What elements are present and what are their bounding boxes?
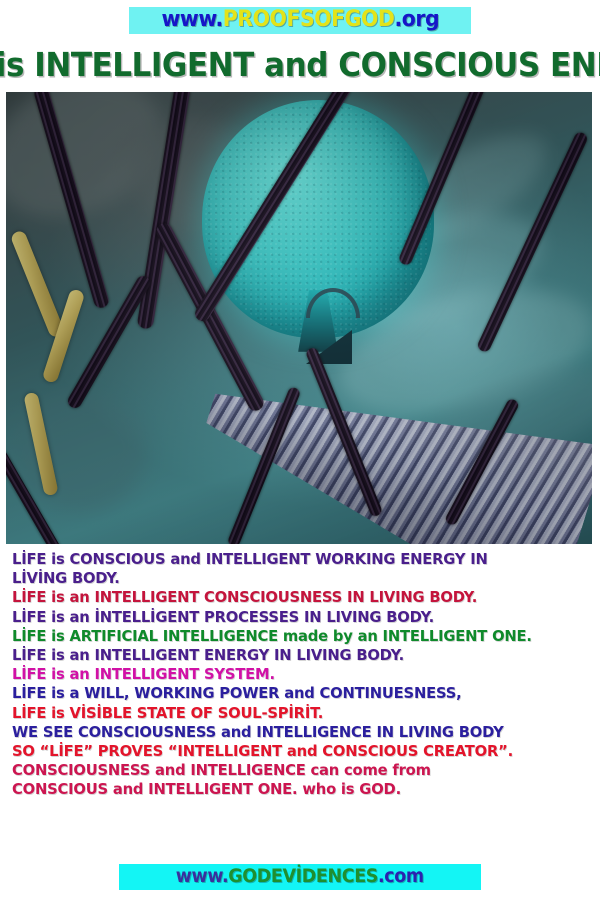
statement-line: LİFE is an INTELLIGENT ENERGY IN LIVING … (12, 646, 578, 665)
cell-illustration (6, 92, 592, 544)
top-banner-area: www.PROOFSOFGOD.org (0, 0, 600, 40)
poster-root: www.PROOFSOFGOD.org LİFE is INTELLIGENT … (0, 0, 600, 900)
top-url-name: PROOFSOFGOD (222, 7, 394, 32)
bottom-url-tld: .com (378, 865, 424, 887)
statement-text-block: LİFE is CONSCIOUS and INTELLIGENT WORKIN… (0, 544, 600, 858)
bottom-website-banner[interactable]: www.GODEVİDENCES.com (119, 864, 481, 890)
statement-line: LİVİNG BODY. (12, 569, 578, 588)
title-area: LİFE is INTELLIGENT and CONSCIOUS ENERGY (0, 40, 600, 92)
statement-line: WE SEE CONSCIOUSNESS and INTELLIGENCE IN… (12, 723, 578, 742)
statement-line: CONSCIOUSNESS and INTELLIGENCE can come … (12, 761, 578, 780)
statement-line: LİFE is CONSCIOUS and INTELLIGENT WORKIN… (12, 550, 578, 569)
statement-line: LİFE is an İNTELLİGENT PROCESSES IN LIVI… (12, 608, 578, 627)
statement-line: CONSCIOUS and INTELLIGENT ONE. who is GO… (12, 780, 578, 799)
bottom-url-name: GODEVİDENCES (229, 865, 379, 887)
top-banner-url: www.PROOFSOFGOD.org (161, 9, 439, 31)
top-url-tld: .org (394, 7, 439, 32)
page-title: LİFE is INTELLIGENT and CONSCIOUS ENERGY (0, 48, 600, 81)
statement-line: LİFE is an INTELLIGENT CONSCIOUSNESS IN … (12, 588, 578, 607)
statement-line: LİFE is VİSİBLE STATE OF SOUL-SPİRİT. (12, 704, 578, 723)
top-url-www: www. (161, 7, 222, 32)
statement-line: SO “LİFE” PROVES “INTELLIGENT and CONSCI… (12, 742, 578, 761)
bottom-banner-url: www.GODEVİDENCES.com (176, 867, 424, 886)
statement-line: LİFE is a WILL, WORKING POWER and CONTIN… (12, 684, 578, 703)
bottom-url-www: www. (176, 865, 228, 887)
bottom-banner-area: www.GODEVİDENCES.com (0, 858, 600, 900)
top-website-banner[interactable]: www.PROOFSOFGOD.org (129, 7, 472, 34)
statement-line: LİFE is ARTIFICIAL INTELLIGENCE made by … (12, 627, 578, 646)
statement-line: LİFE is an INTELLIGENT SYSTEM. (12, 665, 578, 684)
